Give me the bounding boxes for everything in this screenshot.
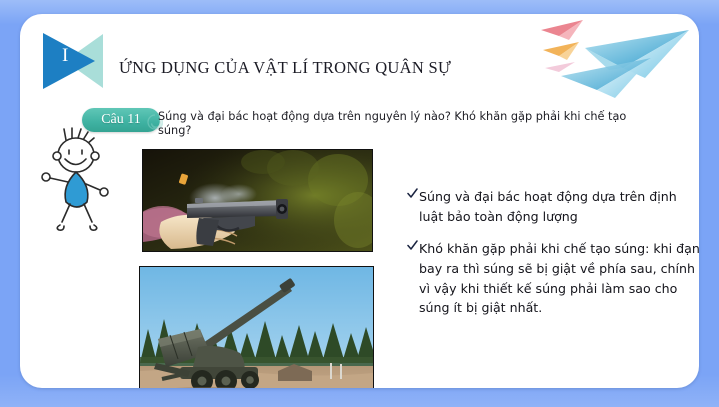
marker-triangles-icon — [43, 32, 129, 90]
slide-canvas: I ỨNG DỤNG CỦA VẬT LÍ TRONG QUÂN SỰ Câu … — [0, 0, 719, 407]
checkmark-icon — [407, 240, 418, 251]
stick-figure-icon — [34, 126, 120, 234]
pistol-firing-photo — [142, 149, 373, 252]
slide-content-card: I ỨNG DỤNG CỦA VẬT LÍ TRONG QUÂN SỰ Câu … — [20, 14, 699, 388]
pistol-photo-graphic — [143, 150, 372, 251]
artillery-cannon-photo — [139, 266, 374, 388]
answer-text: Khó khăn gặp phải khi chế tạo súng: khi … — [419, 241, 699, 316]
section-number: I — [62, 46, 69, 65]
cannon-photo-graphic — [140, 267, 373, 388]
section-marker: I — [43, 32, 129, 90]
answer-text: Súng và đại bác hoạt động dựa trên định … — [419, 189, 677, 224]
page-title: ỨNG DỤNG CỦA VẬT LÍ TRONG QUÂN SỰ — [119, 58, 451, 78]
question-text: Súng và đại bác hoạt động dựa trên nguyê… — [158, 110, 638, 138]
answer-item-1: Súng và đại bác hoạt động dựa trên định … — [408, 186, 699, 226]
checkmark-icon — [407, 188, 418, 199]
answer-item-2: Khó khăn gặp phải khi chế tạo súng: khi … — [408, 238, 699, 318]
paper-planes-icon — [539, 14, 699, 106]
answer-list: Súng và đại bác hoạt động dựa trên định … — [408, 186, 699, 329]
